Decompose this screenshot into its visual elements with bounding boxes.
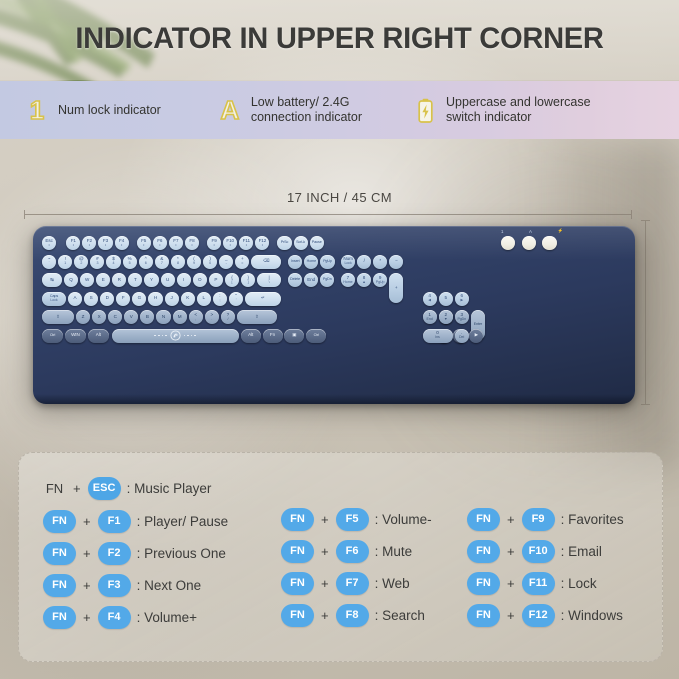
brand-logo-icon [170,330,181,341]
key-num-5[interactable]: %5 [123,255,137,269]
key-insert[interactable]: Insert [288,255,302,269]
key-j[interactable]: J [165,292,179,306]
key-pad-4[interactable]: 4◀ [423,292,437,306]
shortcut-row: FN+F3: Next One [43,569,228,601]
shortcut-modifier-key: FN [43,542,76,565]
key-fn[interactable]: Fn [263,329,283,343]
shortcut-function-key: F9 [522,508,555,531]
shortcut-row: FN+F11: Lock [467,567,624,599]
shortcut-function-key: F10 [522,540,555,563]
spacebar-dot [191,335,193,337]
key-<[interactable]: <, [189,310,203,324]
key-pad-0[interactable]: 0Ins [423,329,453,343]
shortcut-plus-sign: + [321,544,329,559]
key-s[interactable]: S [84,292,98,306]
shortcut-description: : Mute [375,544,413,559]
shortcut-row: FN+F5: Volume- [281,503,432,535]
key-b[interactable]: B [140,310,154,324]
key-f4[interactable]: F4• [115,236,129,250]
key-}[interactable]: }] [241,273,255,287]
shortcut-function-key: F8 [336,604,369,627]
shortcut-plus-sign: + [83,514,91,529]
key-end[interactable]: End [304,273,318,287]
key-i[interactable]: I [177,273,191,287]
shortcut-function-key: ESC [88,477,121,500]
key-pause[interactable]: Pause [310,236,324,250]
spacebar-dot [165,335,167,337]
key-y[interactable]: Y [144,273,158,287]
shortcut-description: : Previous One [137,546,226,561]
key-pgup[interactable]: PgUp [320,255,334,269]
key-num-6[interactable]: ^6 [139,255,153,269]
key-{[interactable]: {[ [225,273,239,287]
key-v[interactable]: V [124,310,138,324]
product-infographic: INDICATOR IN UPPER RIGHT CORNER 1 Num lo… [0,0,679,679]
key-m[interactable]: M [173,310,187,324]
led-indicator-labels: 1A⚡ [501,228,563,234]
indicator-item-lowbattery: A Low battery/ 2.4G connection indicator [217,81,362,139]
shortcut-description: : Music Player [127,481,212,496]
shortcut-plus-sign: + [73,481,81,496]
indicator-legend-bar: 1 Num lock indicator A Low battery/ 2.4G… [0,81,679,139]
shortcut-row: FN+F12: Windows [467,599,624,631]
key-num-8[interactable]: *8 [171,255,185,269]
key-"[interactable]: "' [229,292,243,306]
key-e[interactable]: E [96,273,110,287]
shortcut-function-key: F6 [336,540,369,563]
shortcut-modifier-key: FN [43,574,76,597]
key-pad-5[interactable]: 5 [439,292,453,306]
key-num-2[interactable]: @2 [74,255,88,269]
shortcut-row: FN+F7: Web [281,567,432,599]
key-num-10[interactable]: )0 [203,255,217,269]
key-pad-7[interactable]: 7Home [341,273,355,287]
key-num-1[interactable]: !1 [58,255,72,269]
shortcut-plus-sign: + [507,544,515,559]
led-label-2: ⚡ [558,228,563,234]
key-a[interactable]: A [68,292,82,306]
key-f[interactable]: F [116,292,130,306]
key-delete[interactable]: Delete [288,273,302,287]
shortcut-modifier-key: FN [281,508,314,531]
shortcut-function-key: F12 [522,604,555,627]
key-pad-2[interactable]: 2▼ [439,310,453,324]
shortcut-function-key: F1 [98,510,131,533]
shortcut-function-key: F3 [98,574,131,597]
shortcut-description: : Lock [561,576,597,591]
led-label-1: A [529,229,532,234]
shortcut-function-key: F7 [336,572,369,595]
key-num-3[interactable]: #3 [90,255,104,269]
indicator-label-caps: Uppercase and lowercase switch indicator [446,95,591,125]
num-lock-digit-icon: 1 [24,97,50,123]
key-t[interactable]: T [128,273,142,287]
shortcut-row: FN+F10: Email [467,535,624,567]
key-num-11[interactable]: _- [219,255,233,269]
key-pad-1[interactable]: / [357,255,371,269]
shortcut-description: : Search [375,608,425,623]
key-pad-3[interactable]: 3PgDn [455,310,469,324]
shortcut-row: FN+F6: Mute [281,535,432,567]
key-pad-6[interactable]: 6▶ [455,292,469,306]
key-?[interactable]: ?/ [221,310,235,324]
shortcut-description: : Windows [561,608,623,623]
key-num-0[interactable]: ~` [42,255,56,269]
led-label-0: 1 [501,229,503,234]
shortcut-description: : Email [561,544,602,559]
shortcut-column-1: FN+ESC: Music PlayerFN+F1: Player/ Pause… [43,453,228,633]
shortcut-row: FN+F4: Volume+ [43,601,228,633]
shortcut-function-key: F5 [336,508,369,531]
key-pgdn[interactable]: PgDn [320,273,334,287]
indicator-label-lowbattery: Low battery/ 2.4G connection indicator [251,95,362,125]
key-f7[interactable]: F7• [169,236,183,250]
key-pad-plus[interactable]: + [389,273,403,303]
shortcut-column-2: FN+F5: Volume-FN+F6: MuteFN+F7: WebFN+F8… [281,453,432,631]
shortcut-modifier-key: FN [281,540,314,563]
indicator-item-numlock: 1 Num lock indicator [24,81,161,139]
key-u[interactable]: U [161,273,175,287]
key-f3[interactable]: F3• [98,236,112,250]
shortcut-row: FN+F1: Player/ Pause [43,505,228,537]
key-pad-0[interactable]: NumLock [341,255,355,269]
shortcut-function-key: F11 [522,572,555,595]
key-backspace[interactable]: ⌫ [251,255,281,269]
key-tab[interactable]: ↹ [42,273,62,287]
shortcut-description: : Volume- [375,512,432,527]
keyboard-product-image: Esc•F1•F2•F3•F4•F5•F6•F7•F8•F9•F10•F11•F… [33,226,635,404]
shortcut-column-3: FN+F9: FavoritesFN+F10: EmailFN+F11: Loc… [467,453,624,631]
spacebar-dot [194,335,196,337]
shortcut-description: : Player/ Pause [137,514,229,529]
shortcut-plus-sign: + [83,546,91,561]
led-indicator-key-1[interactable] [522,236,536,250]
key-prsc[interactable]: PrSc [277,236,291,250]
shortcut-plus-sign: + [321,576,329,591]
spacebar-dot [184,335,186,337]
shortcut-row: FN+F2: Previous One [43,537,228,569]
keyboard-bottom-edge [33,394,635,404]
key-num-4[interactable]: $4 [106,255,120,269]
key-num-9[interactable]: (9 [187,255,201,269]
key-home[interactable]: Home [304,255,318,269]
key-z[interactable]: Z [76,310,90,324]
spacebar-dot [154,335,156,337]
key-q[interactable]: Q [64,273,78,287]
led-indicator-key-2[interactable] [542,236,556,250]
shortcut-function-key: F2 [98,542,131,565]
key-o[interactable]: O [193,273,207,287]
key-k[interactable]: K [181,292,195,306]
shortcut-modifier-key: FN [43,477,66,500]
key->[interactable]: >. [205,310,219,324]
key-c[interactable]: C [108,310,122,324]
key-pad-3[interactable]: − [389,255,403,269]
key-pad-8[interactable]: 8▲ [357,273,371,287]
indicator-label-numlock: Num lock indicator [58,103,161,118]
shortcut-modifier-key: FN [467,508,500,531]
shortcut-description: : Favorites [561,512,624,527]
key-enter[interactable]: ↵ [245,292,281,306]
key-w[interactable]: W [80,273,94,287]
key-:[interactable]: :; [213,292,227,306]
key-backslash[interactable]: |\ [257,273,281,287]
shortcut-description: : Web [375,576,410,591]
shortcut-modifier-key: FN [43,606,76,629]
key-d[interactable]: D [100,292,114,306]
indicator-item-caps: Uppercase and lowercase switch indicator [412,81,591,139]
key-▣[interactable]: ▣ [284,329,304,343]
key-ctrl[interactable]: Ctrl [306,329,326,343]
key-scrlk[interactable]: ScrLk [294,236,308,250]
key-f5[interactable]: F5• [137,236,151,250]
key-shift-right[interactable]: ⇧ [237,310,277,324]
page-title: INDICATOR IN UPPER RIGHT CORNER [10,22,669,56]
key-pad-dot[interactable]: .Del [455,329,469,343]
dimension-width-label: 17 INCH / 45 CM [0,190,679,205]
key-win[interactable]: WIN [65,329,86,343]
key-pad-9[interactable]: 9PgUp [373,273,387,287]
key-x[interactable]: X [92,310,106,324]
key-n[interactable]: N [156,310,170,324]
shortcut-description: : Volume+ [137,610,197,625]
spacebar-dot [158,335,160,337]
fn-shortcuts-panel: FN+ESC: Music PlayerFN+F1: Player/ Pause… [18,452,663,662]
key-pad-2[interactable]: * [373,255,387,269]
key-f6[interactable]: F6• [153,236,167,250]
key-l[interactable]: L [197,292,211,306]
shortcut-plus-sign: + [321,608,329,623]
shortcut-modifier-key: FN [281,604,314,627]
key-r[interactable]: R [112,273,126,287]
shortcut-function-key: F4 [98,606,131,629]
shortcut-modifier-key: FN [281,572,314,595]
key-p[interactable]: P [209,273,223,287]
shortcut-row: FN+F8: Search [281,599,432,631]
shortcut-plus-sign: + [321,512,329,527]
dimension-height-line [645,220,646,405]
key-arrow-2[interactable]: ▶ [469,329,483,343]
shortcut-plus-sign: + [507,608,515,623]
spacebar-dot [187,335,189,337]
key-shift-left[interactable]: ⇧ [42,310,74,324]
shortcut-plus-sign: + [507,512,515,527]
shortcut-modifier-key: FN [467,572,500,595]
shortcut-modifier-key: FN [467,540,500,563]
dimension-width-line [24,214,632,215]
key-alt[interactable]: Alt [88,329,109,343]
shortcut-plus-sign: + [83,610,91,625]
shortcut-description: : Next One [137,578,202,593]
shortcut-row: FN+F9: Favorites [467,503,624,535]
shortcut-row: FN+ESC: Music Player [43,471,228,505]
spacebar-brand-mark [154,335,166,337]
key-alt[interactable]: Alt [241,329,261,343]
key-g[interactable]: G [132,292,146,306]
key-ctrl[interactable]: Ctrl [42,329,63,343]
shortcut-modifier-key: FN [43,510,76,533]
battery-bolt-icon [412,98,438,123]
key-num-7[interactable]: &7 [155,255,169,269]
key-num-12[interactable]: += [235,255,249,269]
spacebar-dot [162,335,164,337]
key-caps-lock[interactable]: CapsLock [42,292,66,306]
shortcut-modifier-key: FN [467,604,500,627]
spacebar-brand-mark [184,335,196,337]
shortcut-plus-sign: + [507,576,515,591]
low-battery-letter-icon: A [217,97,243,123]
shortcut-plus-sign: + [83,578,91,593]
key-h[interactable]: H [148,292,162,306]
key-spacebar[interactable] [112,329,239,343]
key-pad-1[interactable]: 1End [423,310,437,324]
